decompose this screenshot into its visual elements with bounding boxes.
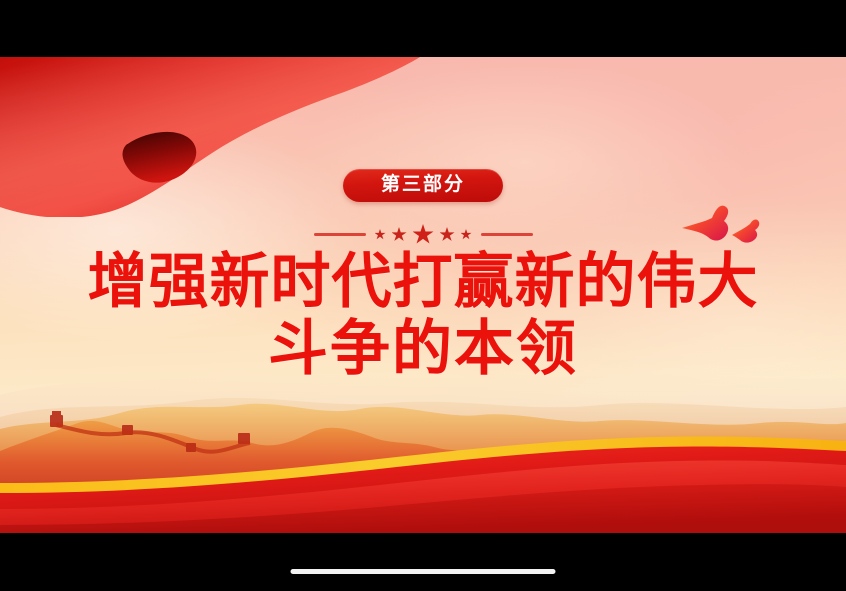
device-frame: 第三部分 增强新时代打赢新的伟大 斗争的本领 bbox=[0, 0, 846, 591]
star-icon bbox=[413, 224, 434, 245]
divider-rule-right bbox=[481, 233, 533, 236]
slide-title-line-2: 斗争的本领 bbox=[28, 316, 818, 383]
presentation-slide[interactable]: 第三部分 增强新时代打赢新的伟大 斗争的本领 bbox=[0, 57, 846, 533]
star-divider bbox=[263, 224, 583, 245]
star-icon bbox=[375, 229, 386, 240]
star-icon bbox=[461, 229, 472, 240]
slide-title: 增强新时代打赢新的伟大 斗争的本领 bbox=[28, 249, 818, 383]
star-icon bbox=[440, 227, 455, 242]
divider-rule-left bbox=[314, 233, 366, 236]
slide-title-line-1: 增强新时代打赢新的伟大 bbox=[28, 249, 818, 316]
section-badge[interactable]: 第三部分 bbox=[343, 169, 503, 202]
home-indicator[interactable] bbox=[291, 569, 556, 574]
divider-stars bbox=[375, 224, 472, 245]
star-icon bbox=[392, 227, 407, 242]
slide-content: 第三部分 增强新时代打赢新的伟大 斗争的本领 bbox=[0, 57, 846, 533]
